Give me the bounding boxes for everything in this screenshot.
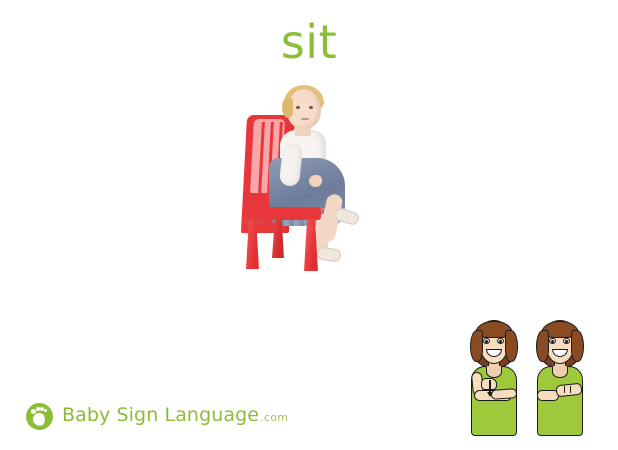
flash-card: sit: [0, 0, 618, 450]
page-title: sit: [0, 14, 618, 70]
signer-finger-line-icon: [564, 386, 565, 393]
child-hair-side-icon: [282, 98, 293, 118]
child-mouth-icon: [301, 118, 309, 120]
signer-hair-right-icon: [571, 330, 584, 362]
signer-pupil-icon: [499, 340, 502, 343]
child-sandal-icon: [316, 246, 342, 262]
footprint-toe-icon: [44, 409, 47, 412]
signer-hair-left-icon: [470, 330, 483, 362]
signer-finger-line-icon: [570, 386, 571, 393]
baby-footprint-icon: [26, 403, 53, 430]
logo-wordmark: Baby Sign Language.com: [62, 404, 288, 429]
photo-stage: [225, 82, 385, 287]
signer-pupil-icon: [551, 340, 554, 343]
word-photo: [225, 82, 385, 287]
signer-collar-icon: [486, 366, 502, 378]
signer-hair-right-icon: [505, 330, 518, 362]
child-eye-icon: [296, 106, 300, 109]
sign-frame-2: [528, 316, 592, 436]
site-logo[interactable]: Baby Sign Language.com: [26, 400, 288, 432]
signer-pupil-icon: [565, 340, 568, 343]
signer-hair-left-icon: [536, 330, 549, 362]
downward-arrow-icon: [489, 380, 491, 393]
signer-flat-hand-icon: [491, 388, 518, 400]
child-hand-icon: [309, 175, 322, 187]
sign-frame-1: [462, 316, 526, 436]
logo-tld-text: .com: [260, 411, 288, 424]
signer-collar-icon: [552, 366, 568, 378]
logo-brand-text: Baby Sign Language: [62, 404, 259, 426]
signer-pupil-icon: [485, 340, 488, 343]
child-eye-icon: [309, 106, 313, 109]
sign-illustrations: [462, 316, 592, 436]
